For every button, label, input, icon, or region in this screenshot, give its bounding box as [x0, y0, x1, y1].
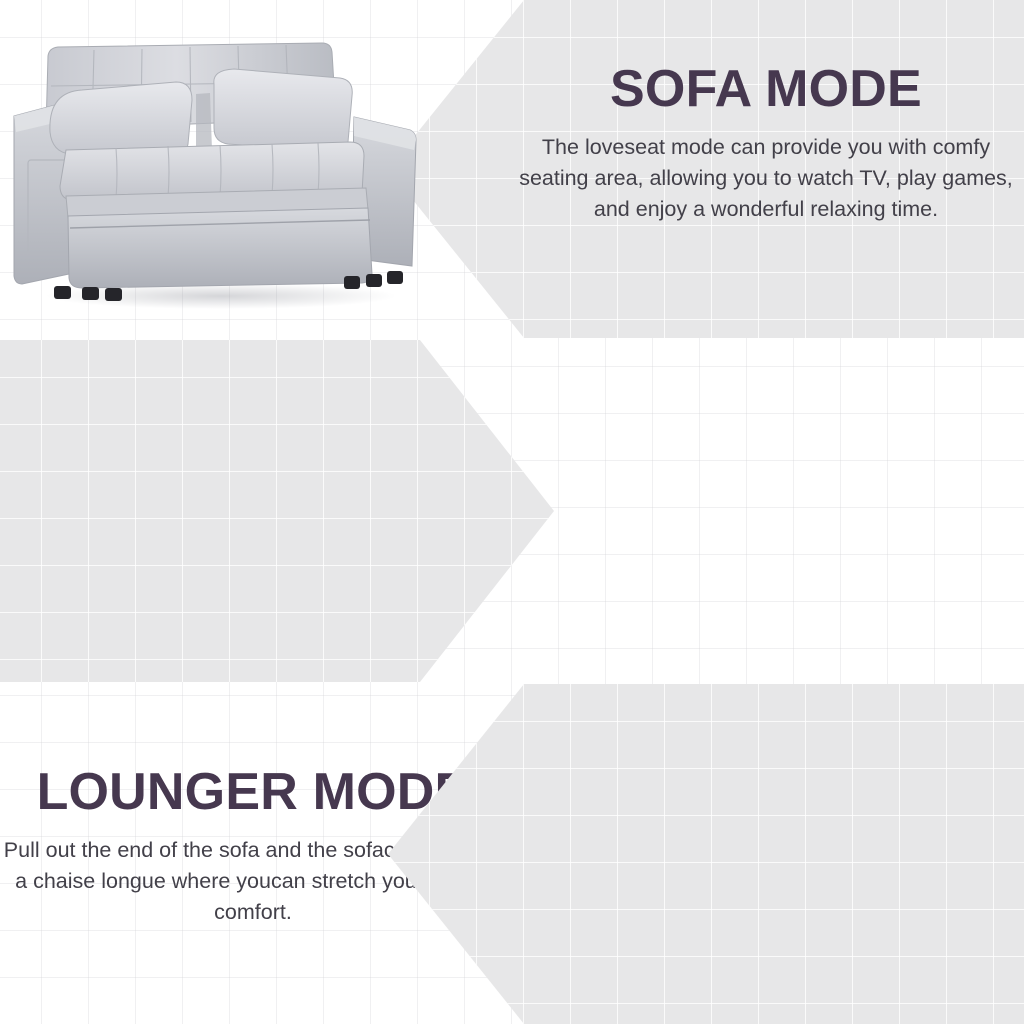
- section-bed-mode: BED MODE Pull down the backrest to turn …: [0, 684, 1024, 1024]
- copy-block-sofa-mode: SOFA MODE The loveseat mode can provide …: [508, 62, 1024, 225]
- product-photo-sofa-mode: [6, 38, 422, 310]
- panel-grid-pattern: [0, 340, 554, 682]
- mode-description-sofa: The loveseat mode can provide you with c…: [508, 132, 1024, 225]
- infographic-canvas: SOFA MODE The loveseat mode can provide …: [0, 0, 1024, 1024]
- chevron-panel-left-2: [0, 340, 554, 682]
- mode-title-sofa: SOFA MODE: [508, 62, 1024, 117]
- section-sofa-mode: SOFA MODE The loveseat mode can provide …: [0, 0, 1024, 338]
- section-lounger-mode: LOUNGER MODE Pull out the end of the sof…: [0, 340, 1024, 682]
- panel-grid-pattern: [388, 684, 1024, 1024]
- chevron-panel-right-3: [388, 684, 1024, 1024]
